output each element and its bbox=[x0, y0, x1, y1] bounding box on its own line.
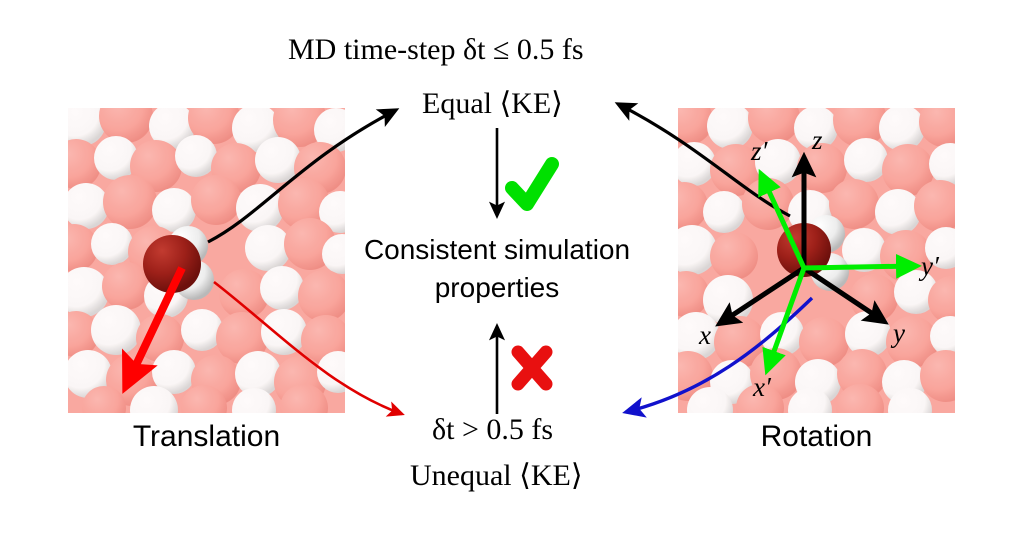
node-timestep-large: δt > 0.5 fs bbox=[432, 413, 553, 447]
axis-label-z: z bbox=[812, 125, 823, 156]
md-timestep-caption: MD time-step δt ≤ 0.5 fs bbox=[288, 33, 584, 67]
node-unequal-ke: Unequal ⟨KE⟩ bbox=[410, 458, 583, 493]
axis-label-x-prime: x′ bbox=[753, 372, 771, 403]
figure-root: Translation bbox=[0, 0, 1024, 539]
node-consistent-properties-line1: Consistent simulation bbox=[347, 234, 647, 266]
node-equal-ke: Equal ⟨KE⟩ bbox=[422, 86, 563, 121]
panel-label-rotation: Rotation bbox=[678, 420, 955, 454]
axis-label-x: x bbox=[699, 320, 711, 351]
panel-translation bbox=[68, 108, 345, 413]
panel-label-translation: Translation bbox=[68, 420, 345, 454]
check-icon bbox=[512, 164, 552, 204]
translation-water-box bbox=[68, 108, 345, 413]
axis-label-y: y bbox=[893, 318, 905, 349]
axis-label-y-prime: y′ bbox=[921, 251, 939, 282]
node-consistent-properties-line2: properties bbox=[347, 272, 647, 304]
axis-label-z-prime: z′ bbox=[751, 136, 767, 167]
cross-icon bbox=[518, 352, 546, 384]
